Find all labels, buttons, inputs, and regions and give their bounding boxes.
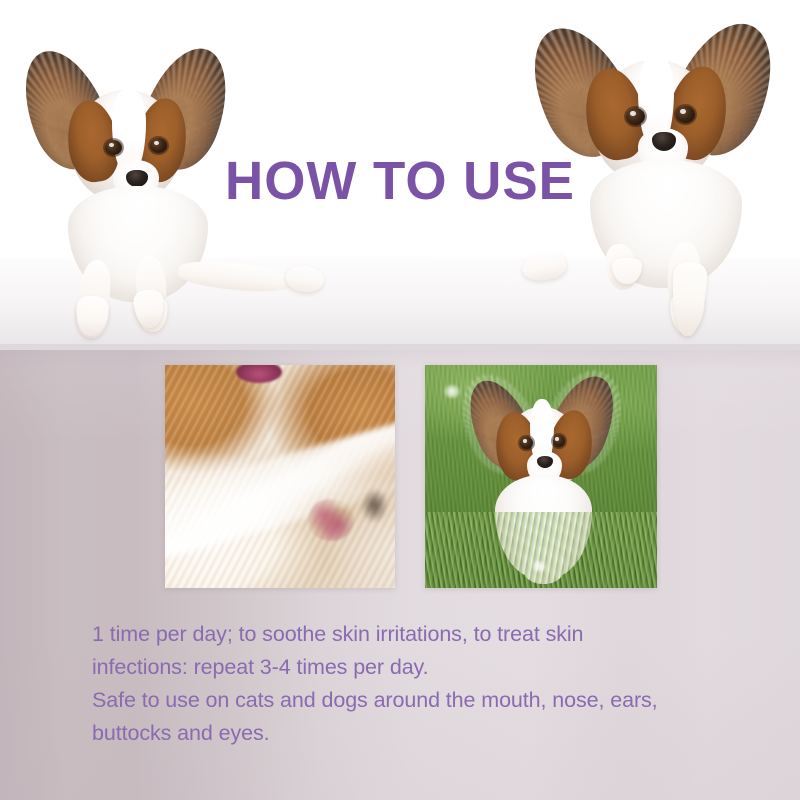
instructions-line-2: infections: repeat 3-4 times per day. (92, 651, 772, 684)
dog-left-eye (520, 437, 532, 450)
dog-left-paw (520, 250, 568, 283)
ledge-drop-shadow (0, 344, 800, 370)
grass-foreground-blades (425, 512, 657, 588)
instructions-line-4: buttocks and eyes. (92, 717, 772, 750)
dog-right-eye (676, 106, 695, 123)
page-title: HOW TO USE (8, 150, 792, 212)
photo-skin-irritation (165, 365, 395, 588)
poster-canvas: HOW TO USE (0, 0, 800, 800)
dog-right-eye (553, 435, 565, 448)
instructions-line-3: Safe to use on cats and dogs around the … (92, 684, 772, 717)
grass-photo (425, 365, 657, 588)
dog-left-eye (626, 108, 645, 125)
daisy-flower (444, 385, 460, 398)
instructions-text: 1 time per day; to soothe skin irritatio… (92, 618, 772, 750)
skin-irritation-patch (308, 499, 354, 541)
fur-photo (165, 365, 395, 588)
daisy-flower (532, 561, 546, 572)
fur-dark-patch (361, 488, 389, 524)
photo-papillon-in-grass (425, 365, 657, 588)
instructions-line-1: 1 time per day; to soothe skin irritatio… (92, 618, 772, 651)
